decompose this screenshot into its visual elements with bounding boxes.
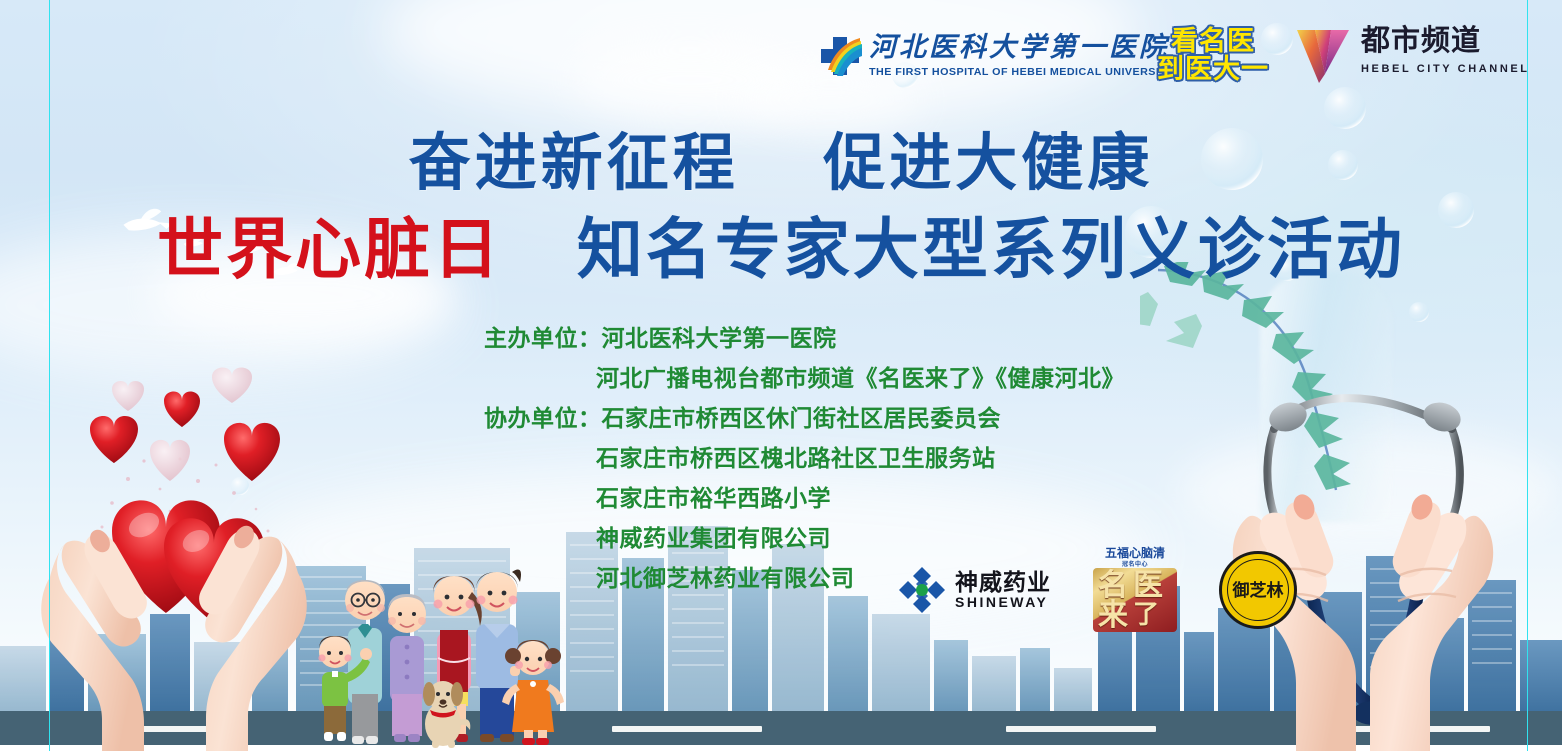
road-dash [1006, 726, 1156, 732]
headline-event-name: 世界心脏日 [157, 212, 502, 286]
crop-guide-right [1527, 0, 1528, 751]
mingyi-char-3: 来 [1098, 601, 1128, 631]
crop-guide-left [49, 0, 50, 751]
organizer-row: 石家庄市裕华西路小学 [484, 478, 1125, 518]
family-grandmother [388, 594, 426, 742]
shineway-diamond-logo [898, 566, 946, 614]
shineway-name-cn: 神威药业 [955, 570, 1051, 594]
banner-root: 河北医科大学第一医院 THE FIRST HOSPITAL OF HEBEI M… [0, 0, 1562, 751]
mingyi-sponsor-tag: 冠名中心 [1089, 559, 1181, 568]
road-dash [612, 726, 762, 732]
mingyi-char-2: 医 [1133, 571, 1163, 601]
medical-cross-logo [818, 34, 862, 78]
tv-name-cn: 都市频道 [1361, 27, 1530, 56]
v-channel-logo [1295, 27, 1353, 83]
tv-channel-logo: 都市频道 HEBEL CITY CHANNEL [1295, 27, 1530, 83]
organizer-row: 主办单位：河北医科大学第一医院 [484, 318, 1125, 358]
hospital-logo: 河北医科大学第一医院 THE FIRST HOSPITAL OF HEBEI M… [818, 34, 1169, 78]
slogan-line-1: 看名医 [1152, 28, 1274, 56]
headline-primary-a: 奋进新征程 [409, 129, 739, 198]
headline-event-detail: 知名专家大型系列义诊活动 [577, 212, 1405, 286]
mingyi-char-1: 名 [1098, 571, 1128, 601]
sponsor-logo-row: 神威药业 SHINEWAY 五福心脑清 冠名中心 名 医 来 了 御芝林 [898, 546, 1297, 634]
slogan-line-2: 到医大一 [1152, 56, 1274, 84]
yuzhilin-name-cn: 御芝林 [1233, 582, 1284, 599]
shineway-name-en: SHINEWAY [955, 594, 1051, 610]
mingyi-program-logo: 五福心脑清 冠名中心 名 医 来 了 [1089, 546, 1181, 634]
tv-name-en: HEBEL CITY CHANNEL [1361, 63, 1530, 75]
header-bar: 河北医科大学第一医院 THE FIRST HOSPITAL OF HEBEI M… [0, 0, 1562, 105]
headline-primary: 奋进新征程 促进大健康 [0, 112, 1562, 202]
organizer-row: 河北广播电视台都市频道《名医来了》《健康河北》 [484, 358, 1125, 398]
shineway-logo: 神威药业 SHINEWAY [898, 566, 1051, 614]
mingyi-char-4: 了 [1133, 601, 1159, 627]
clinic-slogan: 看名医 到医大一 [1152, 28, 1274, 83]
organizer-row: 石家庄市桥西区槐北路社区卫生服务站 [484, 438, 1125, 478]
organizer-row: 协办单位：石家庄市桥西区休门街社区居民委员会 [484, 398, 1125, 438]
headline-secondary: 世界心脏日 知名专家大型系列义诊活动 [0, 196, 1562, 292]
hospital-name-cn: 河北医科大学第一医院 [869, 34, 1169, 61]
headline-primary-b: 促进大健康 [823, 129, 1153, 198]
mingyi-title-block: 名 医 来 了 [1093, 568, 1177, 632]
yuzhilin-seal-inner: 御芝林 [1227, 559, 1289, 621]
hospital-name-en: THE FIRST HOSPITAL OF HEBEI MEDICAL UNIV… [869, 66, 1175, 78]
yuzhilin-seal-logo: 御芝林 [1219, 551, 1297, 629]
